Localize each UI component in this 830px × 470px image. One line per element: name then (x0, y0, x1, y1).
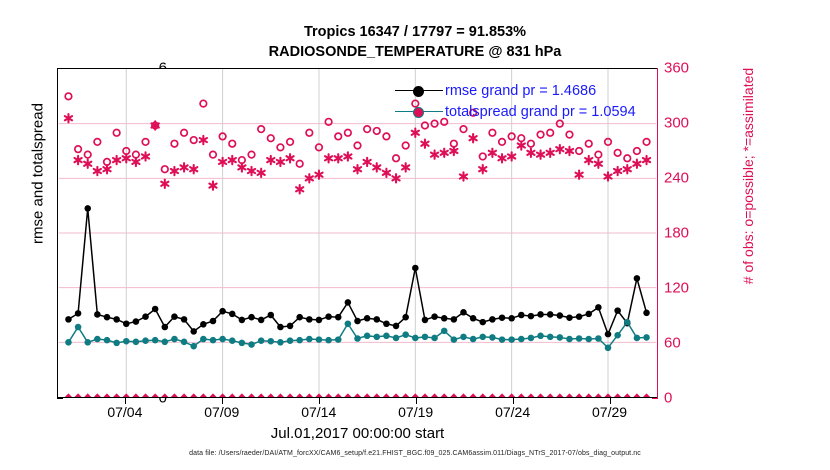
y-tick-right-240: 240 (664, 170, 708, 187)
figure-root: Tropics 16347 / 17797 = 91.853% RADIOSON… (0, 0, 830, 470)
legend-item-totalspread[interactable]: totalspread grand pr = 1.0594 (395, 101, 650, 122)
right-axis-spine (657, 68, 658, 398)
y-tick-right-180: 180 (664, 225, 708, 242)
y-axis-label-left: rmse and totalspread (30, 44, 47, 304)
x-tick-07-19: 07/19 (398, 404, 433, 420)
chart-title-line1: Tropics 16347 / 17797 = 91.853% (0, 24, 830, 40)
legend-label-rmse: rmse grand pr = 1.4686 (443, 83, 596, 99)
data-file-footer: data file: /Users/raeder/DAI/ATM_forcXX/… (0, 450, 830, 457)
x-tick-07-14: 07/14 (301, 404, 336, 420)
x-tickmark (513, 398, 514, 404)
legend-swatch-rmse (395, 84, 443, 98)
x-tickmark (222, 398, 223, 404)
y-tick-right-300: 300 (664, 115, 708, 132)
legend: rmse grand pr = 1.4686 totalspread grand… (395, 80, 650, 122)
x-tick-07-04: 07/04 (107, 404, 142, 420)
x-tickmark (319, 398, 320, 404)
x-axis-label: Jul.01,2017 00:00:00 start (0, 425, 715, 442)
x-tick-07-24: 07/24 (495, 404, 530, 420)
y-tick-right-120: 120 (664, 280, 708, 297)
y-tick-right-360: 360 (664, 60, 708, 77)
y-tickmark-right (652, 398, 658, 399)
x-tick-07-29: 07/29 (592, 404, 627, 420)
y-tickmark-left (57, 398, 63, 399)
x-tickmark (125, 398, 126, 404)
y-axis-label-right: # of obs: o=possible; *=assimilated (740, 26, 756, 326)
legend-item-rmse[interactable]: rmse grand pr = 1.4686 (395, 80, 650, 101)
legend-swatch-totalspread (395, 105, 443, 119)
chart-title-line2: RADIOSONDE_TEMPERATURE @ 831 hPa (0, 44, 830, 60)
x-tick-07-09: 07/09 (204, 404, 239, 420)
y-tick-right-60: 60 (664, 335, 708, 352)
x-tickmark (416, 398, 417, 404)
y-tick-right-0: 0 (664, 390, 708, 407)
legend-label-totalspread: totalspread grand pr = 1.0594 (443, 104, 636, 120)
x-tickmark (610, 398, 611, 404)
